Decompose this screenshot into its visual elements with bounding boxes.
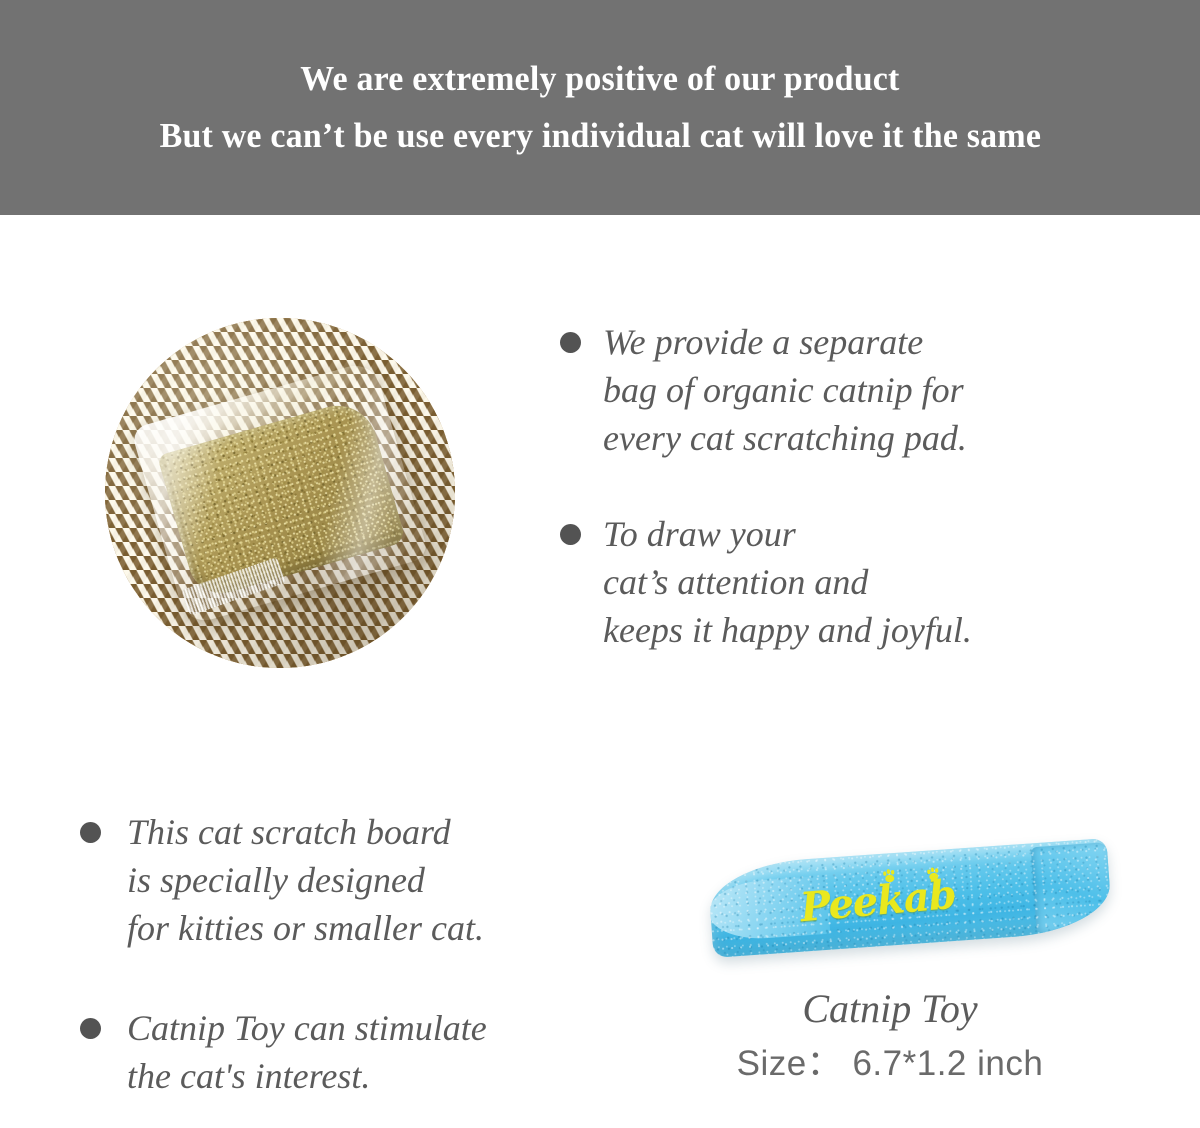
list-item: To draw your cat’s attention and keeps i… (560, 510, 1160, 654)
list-item: We provide a separate bag of organic cat… (560, 318, 1160, 462)
bullet-dot-icon (560, 332, 581, 353)
toy-plush-body (707, 838, 1112, 958)
list-item: This cat scratch board is specially desi… (80, 808, 640, 952)
product-infographic: We are extremely positive of our product… (0, 0, 1200, 1128)
header-banner: We are extremely positive of our product… (0, 0, 1200, 215)
feature-list-left: This cat scratch board is specially desi… (80, 808, 640, 1100)
catnip-toy-figure: Peekab Catnip Toy Size： 6.7*1.2 inch (660, 838, 1120, 1128)
list-item-label: To draw your cat’s attention and keeps i… (603, 510, 972, 654)
toy-tail-end (1031, 842, 1113, 933)
toy-size-label: Size： 6.7*1.2 inch (660, 1044, 1120, 1084)
catnip-bag-photo (105, 318, 455, 668)
header-headline-secondary: But we can’t be use every individual cat… (159, 118, 1040, 155)
toy-caption-block: Catnip Toy Size： 6.7*1.2 inch (660, 986, 1120, 1084)
toy-nose-tip (707, 876, 830, 942)
catnip-toy-image: Peekab (682, 838, 1112, 968)
list-item-label: We provide a separate bag of organic cat… (603, 318, 967, 462)
list-item-label: Catnip Toy can stimulate the cat's inter… (127, 1004, 487, 1100)
bullet-dot-icon (80, 822, 101, 843)
bullet-dot-icon (80, 1018, 101, 1039)
bullet-dot-icon (560, 524, 581, 545)
toy-caption-title: Catnip Toy (660, 986, 1120, 1032)
list-item: Catnip Toy can stimulate the cat's inter… (80, 1004, 640, 1100)
catnip-granules (157, 396, 407, 602)
list-item-label: This cat scratch board is specially desi… (127, 808, 484, 952)
header-headline-primary: We are extremely positive of our product (300, 61, 899, 98)
feature-list-right: We provide a separate bag of organic cat… (560, 318, 1160, 654)
